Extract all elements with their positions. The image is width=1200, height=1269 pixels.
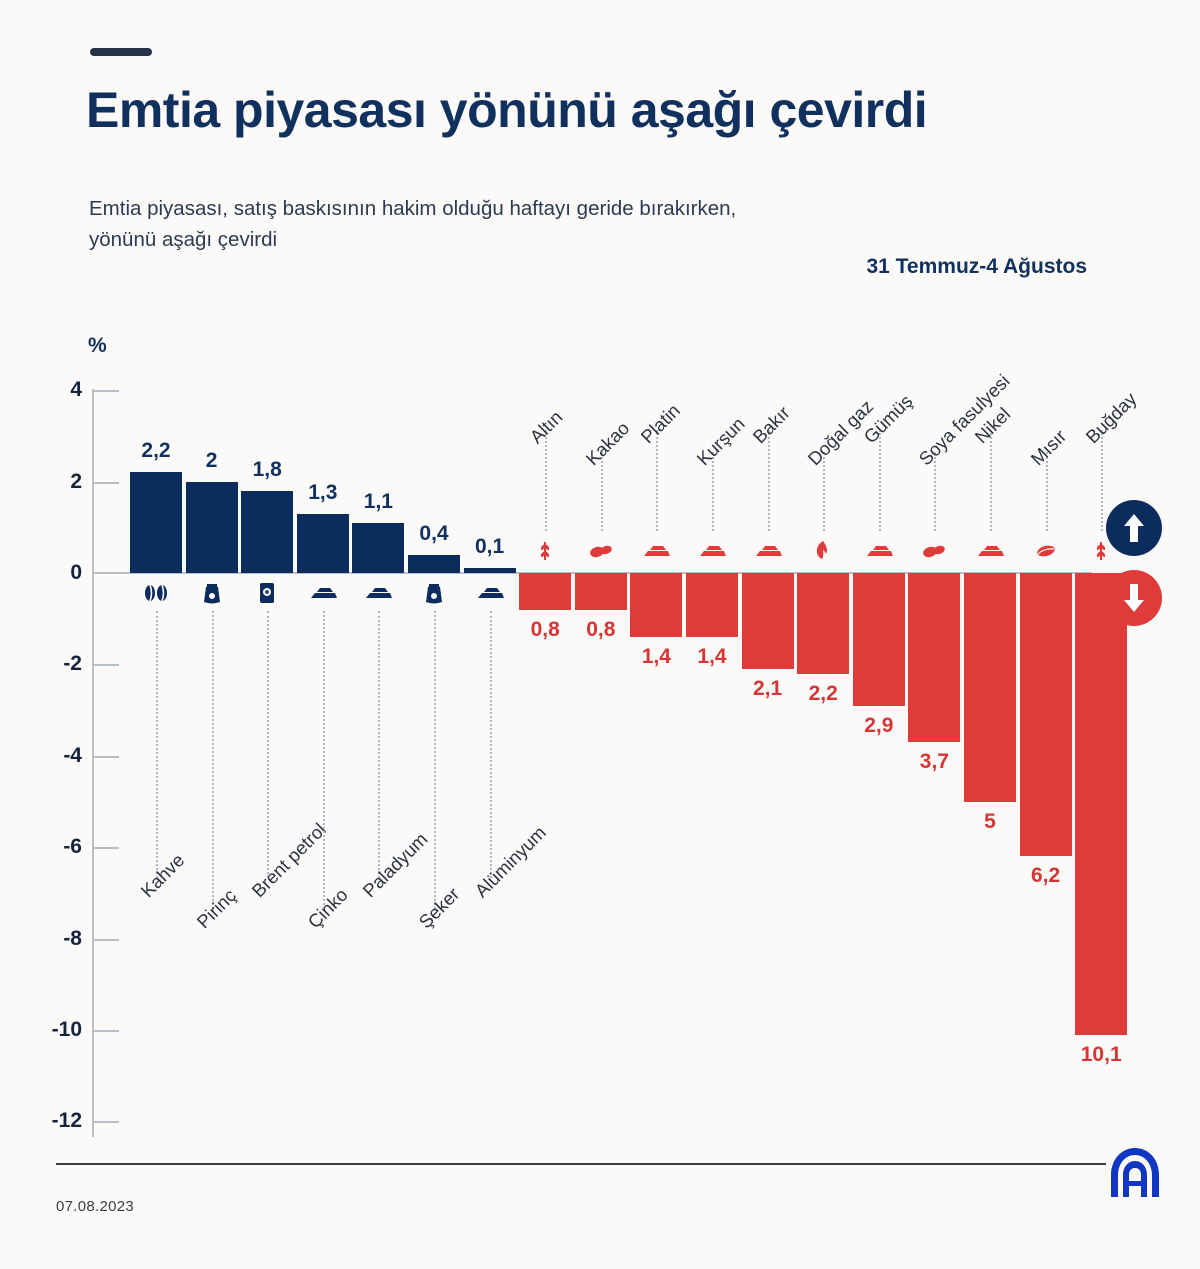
bar-buğday [1075, 573, 1127, 1035]
corn-icon [1020, 536, 1072, 566]
platinum-icon [630, 536, 682, 566]
category-leader-line [378, 611, 380, 878]
y-axis-tick-label: -12 [20, 1109, 82, 1133]
metal-ingot-icon [297, 578, 349, 608]
category-label: Alüminyum [470, 822, 550, 902]
category-leader-line [879, 430, 881, 531]
bar-çinko [297, 514, 349, 573]
category-label: Pirinç [192, 885, 240, 933]
category-leader-line [1101, 430, 1103, 531]
oil-barrel-icon [241, 578, 293, 608]
category-label: Mısır [1026, 425, 1071, 470]
metal-ingot-icon [464, 578, 516, 608]
y-axis-tick-mark [92, 1121, 119, 1123]
y-axis-tick-label: -4 [20, 744, 82, 768]
category-label: Brent petrol [248, 819, 331, 902]
bar-altın [519, 573, 571, 610]
copper-icon [742, 536, 794, 566]
category-label: Altın [526, 406, 568, 448]
category-leader-line [267, 611, 269, 878]
bar-value-label: 10,1 [1056, 1043, 1146, 1067]
wheat-gold-icon [519, 536, 571, 566]
y-axis-tick-mark [92, 482, 119, 484]
y-axis-tick-label: 0 [20, 561, 82, 585]
bar-soya-fasulyesi [908, 573, 960, 742]
silver-icon [853, 536, 905, 566]
y-axis-tick-mark [92, 847, 119, 849]
bar-gümüş [853, 573, 905, 706]
category-label: Paladyum [359, 828, 433, 902]
bar-nikel [964, 573, 1016, 802]
y-axis-tick-label: -2 [20, 652, 82, 676]
category-leader-line [545, 430, 547, 531]
y-axis-unit-label: % [88, 334, 107, 358]
bar-mısır [1020, 573, 1072, 856]
y-axis-tick-label: 2 [20, 470, 82, 494]
category-label: Şeker [414, 883, 464, 933]
bar-pirinç [186, 482, 238, 573]
sugar-bag-icon [408, 578, 460, 608]
category-label: Kurşun [692, 413, 749, 470]
y-axis-tick-mark [92, 390, 119, 392]
coffee-beans-icon [130, 578, 182, 608]
y-axis-tick-label: -10 [20, 1018, 82, 1042]
bar-doğal-gaz [797, 573, 849, 674]
commodity-bar-chart: % 420-2-4-6-8-10-12 2,2Kahve2Pirinç1,8Br… [0, 0, 1200, 1269]
arrow-down-icon [1106, 570, 1162, 626]
category-leader-line [490, 611, 492, 878]
category-leader-line [156, 611, 158, 878]
cocoa-icon [575, 536, 627, 566]
bar-platin [630, 573, 682, 637]
y-axis-tick-label: 4 [20, 378, 82, 402]
gas-flame-icon [797, 536, 849, 566]
y-axis-tick-mark [92, 939, 119, 941]
category-leader-line [434, 611, 436, 909]
bar-kurşun [686, 573, 738, 637]
y-axis-tick-mark [92, 756, 119, 758]
category-leader-line [212, 611, 214, 909]
y-axis-line [92, 389, 94, 1137]
aa-logo [1104, 1145, 1166, 1201]
nickel-icon [964, 536, 1016, 566]
category-leader-line [656, 430, 658, 531]
category-label: Kahve [136, 849, 189, 902]
category-leader-line [323, 611, 325, 909]
category-leader-line [990, 430, 992, 531]
arrow-up-icon [1106, 500, 1162, 556]
bar-kahve [130, 472, 182, 573]
bar-value-label: 1,1 [333, 490, 423, 514]
footer-divider [56, 1163, 1106, 1165]
category-leader-line [768, 430, 770, 531]
category-label: Çinko [303, 884, 352, 933]
category-label: Bakır [748, 402, 794, 448]
soybean-icon [908, 536, 960, 566]
category-label: Buğday [1082, 388, 1142, 448]
footer-date: 07.08.2023 [56, 1198, 134, 1215]
bar-alüminyum [464, 568, 516, 573]
category-label: Platin [637, 400, 685, 448]
lead-icon [686, 536, 738, 566]
y-axis-tick-label: -8 [20, 927, 82, 951]
bar-kakao [575, 573, 627, 610]
metal-ingot-icon [352, 578, 404, 608]
category-label: Kakao [581, 417, 634, 470]
bar-value-label: 1,8 [222, 458, 312, 482]
y-axis-tick-mark [92, 664, 119, 666]
rice-bag-icon [186, 578, 238, 608]
y-axis-tick-label: -6 [20, 835, 82, 859]
bar-bakır [742, 573, 794, 669]
y-axis-tick-mark [92, 1030, 119, 1032]
